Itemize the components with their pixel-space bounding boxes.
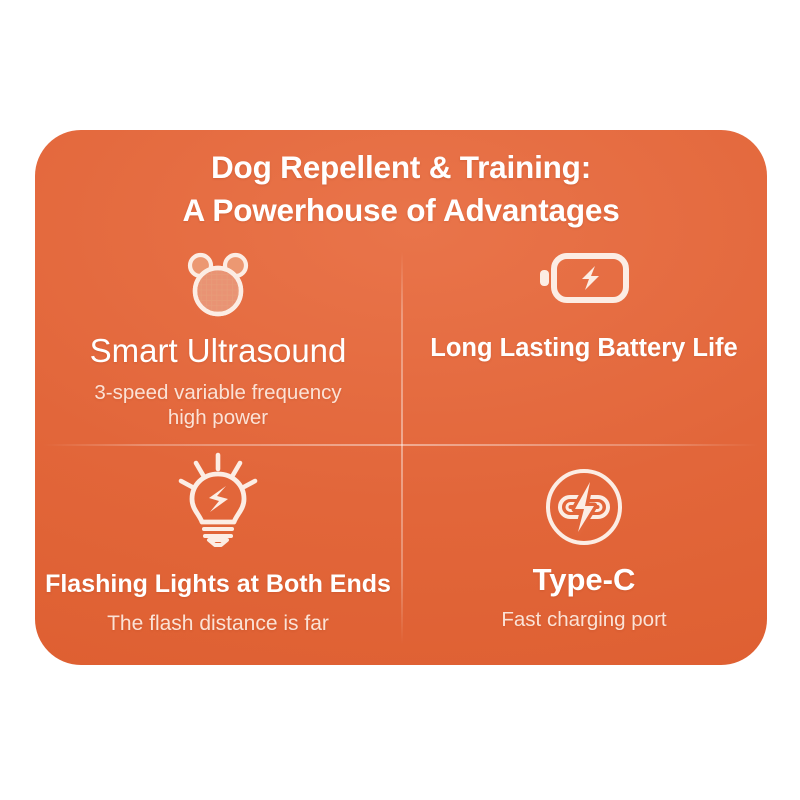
feature-title: Type-C xyxy=(533,562,636,598)
dog-head-ultrasound-speaker-icon xyxy=(180,248,256,320)
battery-charging-icon xyxy=(538,248,630,308)
title-line-2: A Powerhouse of Advantages xyxy=(35,189,767,232)
page-title: Dog Repellent & Training: A Powerhouse o… xyxy=(35,146,767,232)
feature-grid: Smart Ultrasound 3-speed variable freque… xyxy=(35,234,767,665)
infographic-canvas: Dog Repellent & Training: A Powerhouse o… xyxy=(0,0,800,800)
feature-title: Smart Ultrasound xyxy=(90,332,347,370)
feature-item-battery-life: Long Lasting Battery Life xyxy=(401,234,767,444)
light-bulb-flash-icon xyxy=(176,452,260,548)
feature-description: The flash distance is far xyxy=(107,611,329,636)
feature-description: 3-speed variable frequency high power xyxy=(94,381,341,430)
title-line-1: Dog Repellent & Training: xyxy=(35,146,767,189)
feature-desc-line-1: 3-speed variable frequency xyxy=(94,381,341,404)
feature-desc-line-2: high power xyxy=(168,406,268,429)
feature-title: Long Lasting Battery Life xyxy=(430,334,737,363)
feature-description: Fast charging port xyxy=(501,608,666,633)
feature-card: Dog Repellent & Training: A Powerhouse o… xyxy=(35,130,767,665)
feature-item-smart-ultrasound: Smart Ultrasound 3-speed variable freque… xyxy=(35,234,401,444)
feature-title: Flashing Lights at Both Ends xyxy=(45,570,391,599)
feature-item-flashing-lights: Flashing Lights at Both Ends The flash d… xyxy=(35,444,401,665)
feature-item-type-c: Type-C Fast charging port xyxy=(401,444,767,665)
usb-type-c-fast-charge-icon xyxy=(543,466,625,548)
